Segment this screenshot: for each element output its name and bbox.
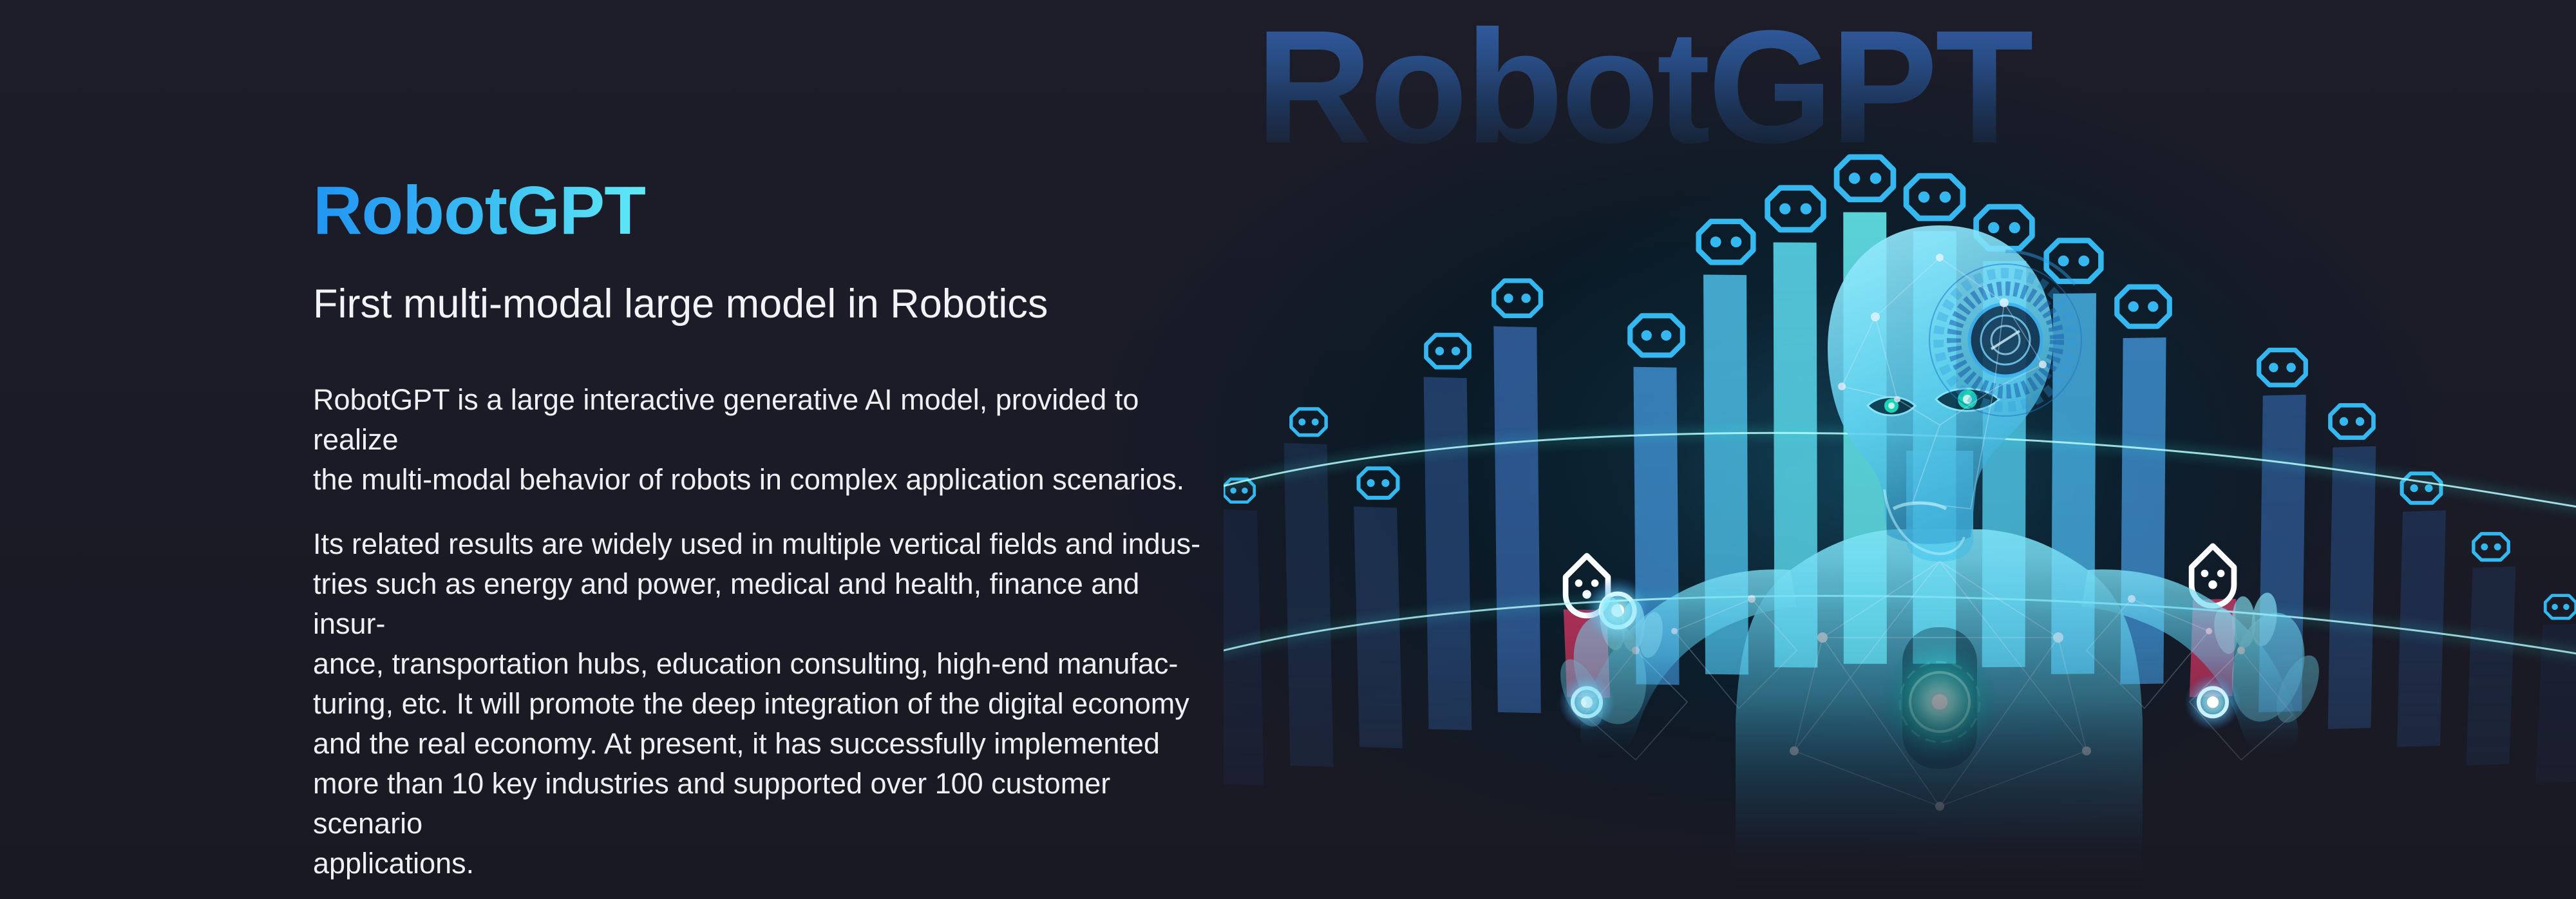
hero-paragraph-1: RobotGPT is a large interactive generati… <box>313 380 1215 500</box>
hero-illustration: RobotGPT <box>1224 0 2576 899</box>
hero-banner: RobotGPT First multi-modal large model i… <box>0 0 2576 899</box>
humanoid-robot-figure <box>1224 0 2576 899</box>
page-title: RobotGPT <box>313 175 645 247</box>
hero-body-copy: RobotGPT is a large interactive generati… <box>313 380 1215 884</box>
hero-subtitle: First multi-modal large model in Robotic… <box>313 281 1048 327</box>
hero-paragraph-2: Its related results are widely used in m… <box>313 524 1215 884</box>
hero-text-column: RobotGPT First multi-modal large model i… <box>313 0 1227 899</box>
